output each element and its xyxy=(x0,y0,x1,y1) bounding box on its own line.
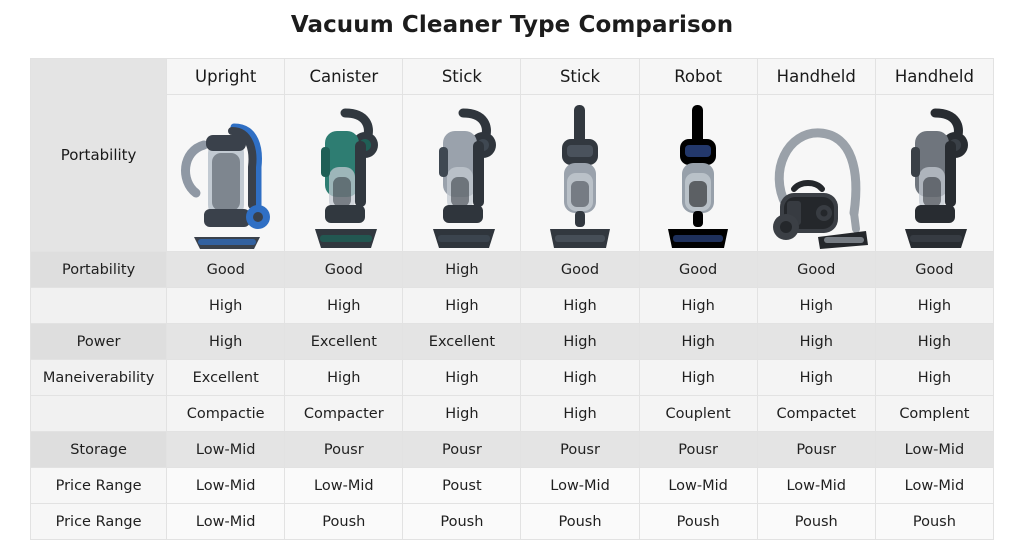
column-header-4: Stick xyxy=(521,59,639,95)
comparison-table-page: Vacuum Cleaner Type Comparison Portabili… xyxy=(0,0,1024,559)
cell-r5-c1: Compactie xyxy=(167,396,285,432)
cell-r4-c7: High xyxy=(875,360,993,396)
product-image-cell-6 xyxy=(757,95,875,252)
cell-r5-c3: High xyxy=(403,396,521,432)
table-body: PortabilityUprightCanisterStickStickRobo… xyxy=(31,59,994,540)
cell-r3-c4: High xyxy=(521,324,639,360)
cell-r6-c6: Pousr xyxy=(757,432,875,468)
cell-r4-c5: High xyxy=(639,360,757,396)
cell-r4-c3: High xyxy=(403,360,521,396)
row-label-6: Storage xyxy=(31,432,167,468)
cell-r7-c5: Low-Mid xyxy=(639,468,757,504)
cell-r7-c1: Low-Mid xyxy=(167,468,285,504)
column-header-5: Robot xyxy=(639,59,757,95)
cell-r4-c6: High xyxy=(757,360,875,396)
row-label-2 xyxy=(31,288,167,324)
cell-r7-c2: Low-Mid xyxy=(285,468,403,504)
cell-r8-c1: Low-Mid xyxy=(167,504,285,540)
table-row: ManeiverabilityExcellentHighHighHighHigh… xyxy=(31,360,994,396)
column-header-1: Upright xyxy=(167,59,285,95)
cell-r1-c2: Good xyxy=(285,252,403,288)
cell-r2-c7: High xyxy=(875,288,993,324)
cell-r7-c7: Low-Mid xyxy=(875,468,993,504)
row-label-5 xyxy=(31,396,167,432)
comparison-table-container: PortabilityUprightCanisterStickStickRobo… xyxy=(30,58,994,538)
cell-r3-c2: Excellent xyxy=(285,324,403,360)
table-row: HighHighHighHighHighHighHigh xyxy=(31,288,994,324)
cell-r8-c6: Poush xyxy=(757,504,875,540)
cell-r7-c3: Poust xyxy=(403,468,521,504)
cell-r1-c7: Good xyxy=(875,252,993,288)
table-row: Price RangeLow-MidLow-MidPoustLow-MidLow… xyxy=(31,468,994,504)
cell-r3-c6: High xyxy=(757,324,875,360)
table-row: CompactieCompacterHighHighCouplentCompac… xyxy=(31,396,994,432)
cell-r1-c1: Good xyxy=(167,252,285,288)
cell-r5-c2: Compacter xyxy=(285,396,403,432)
cell-r4-c2: High xyxy=(285,360,403,396)
product-image-cell-2 xyxy=(285,95,403,252)
cell-r7-c6: Low-Mid xyxy=(757,468,875,504)
cell-r8-c5: Poush xyxy=(639,504,757,540)
column-header-6: Handheld xyxy=(757,59,875,95)
cell-r1-c3: High xyxy=(403,252,521,288)
cell-r3-c3: Excellent xyxy=(403,324,521,360)
comparison-table: PortabilityUprightCanisterStickStickRobo… xyxy=(30,58,994,540)
product-image-cell-7 xyxy=(875,95,993,252)
cell-r6-c5: Pousr xyxy=(639,432,757,468)
cell-r8-c3: Poush xyxy=(403,504,521,540)
row-label-1: Portability xyxy=(31,252,167,288)
product-image-cell-1 xyxy=(167,95,285,252)
stick-vacuum-image-2 xyxy=(521,95,638,251)
canister-vacuum-image xyxy=(285,95,402,251)
cell-r2-c4: High xyxy=(521,288,639,324)
cell-r7-c4: Low-Mid xyxy=(521,468,639,504)
cell-r1-c4: Good xyxy=(521,252,639,288)
cell-r6-c1: Low-Mid xyxy=(167,432,285,468)
row-label-4: Maneiverability xyxy=(31,360,167,396)
cell-r8-c2: Poush xyxy=(285,504,403,540)
cell-r2-c2: High xyxy=(285,288,403,324)
page-title: Vacuum Cleaner Type Comparison xyxy=(0,12,1024,38)
cell-r8-c4: Poush xyxy=(521,504,639,540)
corner-label-cell: Portability xyxy=(31,59,167,252)
cell-r3-c1: High xyxy=(167,324,285,360)
cell-r2-c6: High xyxy=(757,288,875,324)
column-header-2: Canister xyxy=(285,59,403,95)
product-image-cell-5 xyxy=(639,95,757,252)
cell-r5-c4: High xyxy=(521,396,639,432)
row-label-7: Price Range xyxy=(31,468,167,504)
cell-r5-c6: Compactet xyxy=(757,396,875,432)
product-image-cell-4 xyxy=(521,95,639,252)
handheld-vacuum-image xyxy=(758,95,875,251)
table-row: Price RangeLow-MidPoushPoushPoushPoushPo… xyxy=(31,504,994,540)
cell-r1-c6: Good xyxy=(757,252,875,288)
robot-vacuum-image xyxy=(640,95,757,251)
column-header-3: Stick xyxy=(403,59,521,95)
handheld-vacuum-image-2 xyxy=(876,95,993,251)
cell-r8-c7: Poush xyxy=(875,504,993,540)
cell-r5-c5: Couplent xyxy=(639,396,757,432)
cell-r2-c3: High xyxy=(403,288,521,324)
cell-r6-c7: Low-Mid xyxy=(875,432,993,468)
cell-r2-c1: High xyxy=(167,288,285,324)
column-header-7: Handheld xyxy=(875,59,993,95)
product-image-cell-3 xyxy=(403,95,521,252)
cell-r2-c5: High xyxy=(639,288,757,324)
cell-r1-c5: Good xyxy=(639,252,757,288)
cell-r3-c7: High xyxy=(875,324,993,360)
table-row: PortabilityGoodGoodHighGoodGoodGoodGood xyxy=(31,252,994,288)
table-row: StorageLow-MidPousrPousrPousrPousrPousrL… xyxy=(31,432,994,468)
cell-r4-c4: High xyxy=(521,360,639,396)
cell-r6-c2: Pousr xyxy=(285,432,403,468)
cell-r6-c3: Pousr xyxy=(403,432,521,468)
row-label-8: Price Range xyxy=(31,504,167,540)
cell-r6-c4: Pousr xyxy=(521,432,639,468)
cell-r3-c5: High xyxy=(639,324,757,360)
product-image-row xyxy=(31,95,994,252)
row-label-3: Power xyxy=(31,324,167,360)
cell-r4-c1: Excellent xyxy=(167,360,285,396)
cell-r5-c7: Complent xyxy=(875,396,993,432)
stick-vacuum-image xyxy=(403,95,520,251)
table-header-row: PortabilityUprightCanisterStickStickRobo… xyxy=(31,59,994,95)
upright-vacuum-image xyxy=(167,95,284,251)
table-row: PowerHighExcellentExcellentHighHighHighH… xyxy=(31,324,994,360)
